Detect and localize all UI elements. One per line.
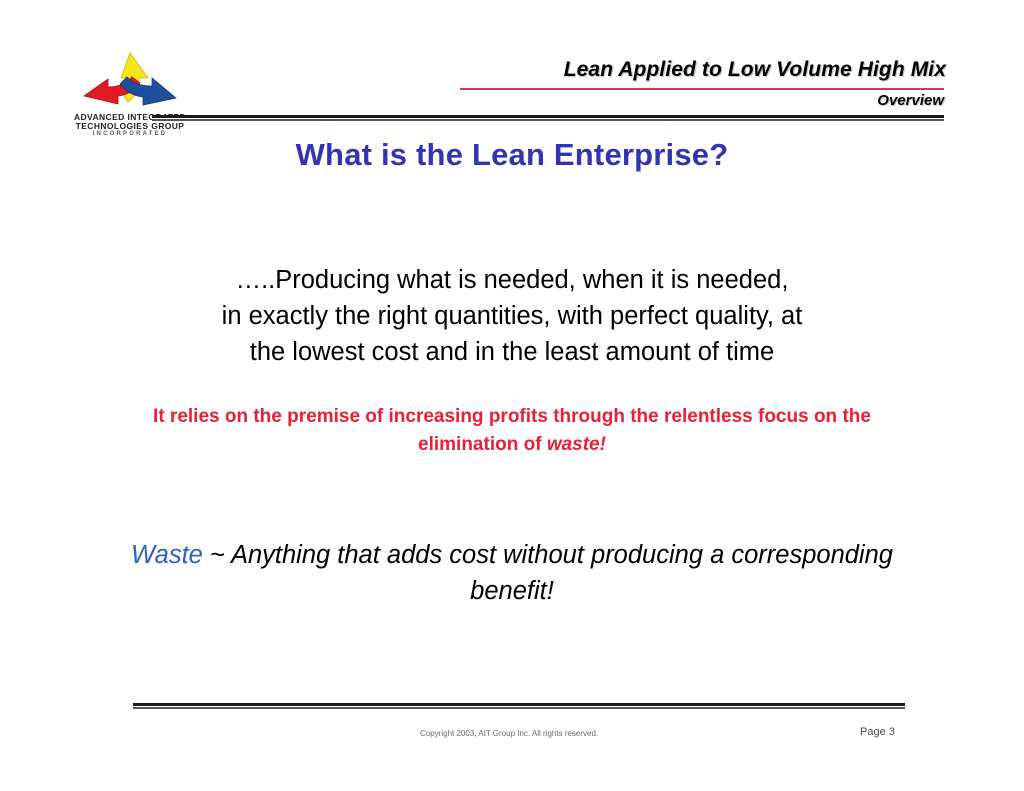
definition-line-1: …..Producing what is needed, when it is … xyxy=(112,262,912,298)
premise-emphasis: waste! xyxy=(547,434,606,455)
premise-text: It relies on the premise of increasing p… xyxy=(112,403,912,458)
company-logo: ADVANCED INTEGRATED TECHNOLOGIES GROUP I… xyxy=(70,52,190,142)
footer-divider-rule xyxy=(133,703,905,709)
copyright-notice: Copyright 2003, AIT Group Inc. All right… xyxy=(420,729,598,738)
header-accent-rule xyxy=(460,88,944,90)
logo-line-2: TECHNOLOGIES GROUP xyxy=(70,122,190,131)
slide-canvas: ADVANCED INTEGRATED TECHNOLOGIES GROUP I… xyxy=(0,0,1024,791)
waste-body: ~ Anything that adds cost without produc… xyxy=(203,541,893,605)
lean-definition-text: …..Producing what is needed, when it is … xyxy=(112,262,912,371)
waste-term: Waste xyxy=(131,541,203,569)
header-divider-rule xyxy=(152,115,944,121)
header-subtitle: Overview xyxy=(877,92,944,109)
triskelion-arrows-icon xyxy=(78,52,182,114)
header-title: Lean Applied to Low Volume High Mix xyxy=(564,58,946,82)
page-number: Page 3 xyxy=(860,726,895,738)
footer-rule-lower-bar xyxy=(133,707,905,709)
definition-line-3: the lowest cost and in the least amount … xyxy=(112,334,912,370)
definition-line-2: in exactly the right quantities, with pe… xyxy=(112,298,912,334)
waste-definition-text: Waste ~ Anything that adds cost without … xyxy=(112,538,912,609)
page-title: What is the Lean Enterprise? xyxy=(0,137,1024,173)
header-rule-lower-bar xyxy=(152,119,944,121)
premise-body: It relies on the premise of increasing p… xyxy=(153,406,871,455)
